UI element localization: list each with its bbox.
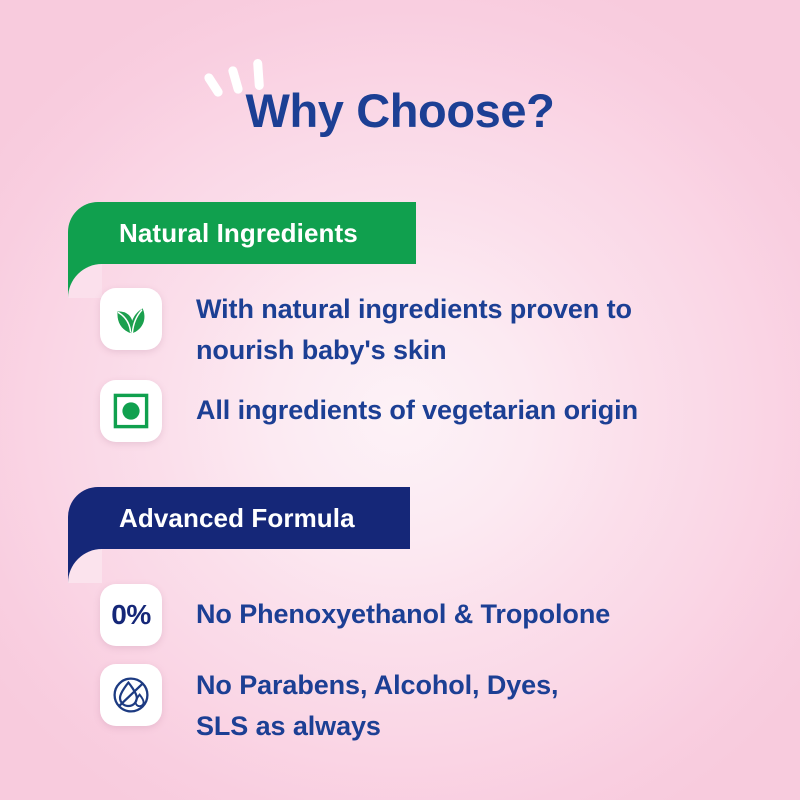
title-block: Why Choose? [0,56,800,140]
section-banner-label: Natural Ingredients [119,218,358,248]
zero-percent-icon: 0% [100,584,162,646]
section-banner-tail-natural [68,264,102,298]
vegetarian-mark-icon [100,380,162,442]
leaves-icon [100,288,162,350]
section-banner-advanced-formula: Advanced Formula [68,487,410,549]
zero-percent-label: 0% [111,601,150,629]
feature-text: With natural ingredients proven to nouri… [196,288,632,371]
why-choose-poster: Why Choose? Natural Ingredients With nat… [0,0,800,800]
section-banner-label: Advanced Formula [119,503,355,533]
feature-row: All ingredients of vegetarian origin [100,380,638,442]
feature-text: No Parabens, Alcohol, Dyes, SLS as alway… [196,664,558,747]
sparkle-stroke-2 [227,65,243,94]
no-droplet-icon [100,664,162,726]
feature-text: No Phenoxyethanol & Tropolone [196,584,610,635]
feature-text: All ingredients of vegetarian origin [196,380,638,431]
feature-row: No Parabens, Alcohol, Dyes, SLS as alway… [100,664,558,747]
feature-row: 0% No Phenoxyethanol & Tropolone [100,584,610,646]
page-title: Why Choose? [0,56,800,140]
section-banner-tail-advanced [68,549,102,583]
sparkle-strokes-icon [207,58,273,100]
sparkle-stroke-3 [253,59,264,91]
feature-row: With natural ingredients proven to nouri… [100,288,632,371]
section-banner-natural-ingredients: Natural Ingredients [68,202,416,264]
